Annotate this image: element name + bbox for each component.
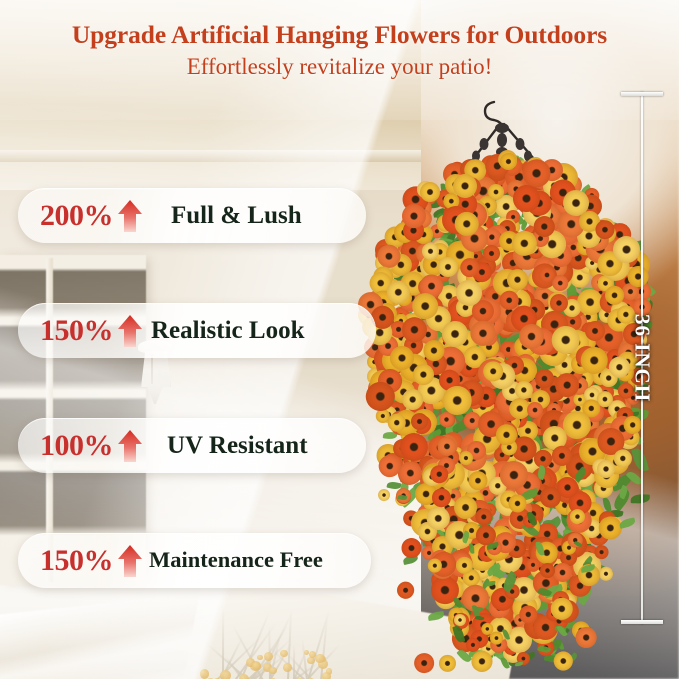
feature-percent: 150% [40, 316, 113, 346]
feature-percent: 150% [40, 546, 113, 576]
feature-pill-full-and-lush[interactable]: 200% Full & Lush [18, 188, 366, 243]
artificial-flowers [352, 156, 652, 656]
up-arrow-icon [117, 429, 143, 463]
feature-label: UV Resistant [167, 433, 308, 458]
feature-percent: 100% [40, 431, 113, 461]
ruler-cap-top [621, 92, 663, 96]
feature-pill-maintenance-free[interactable]: 150% Maintenance Free [18, 533, 371, 588]
up-arrow-icon [117, 544, 143, 578]
measurement-label: 36 INCH [630, 314, 655, 402]
up-arrow-icon [117, 199, 143, 233]
lantern-bottom [147, 386, 163, 404]
up-arrow-icon [117, 314, 143, 348]
background-grass-pods [195, 650, 345, 679]
measurement-ruler: 36 INCH [619, 92, 665, 624]
feature-pill-realistic-look[interactable]: 150% Realistic Look [18, 303, 376, 358]
product-infographic: Upgrade Artificial Hanging Flowers for O… [0, 0, 679, 679]
hanging-flower-basket [352, 96, 652, 656]
feature-label: Realistic Look [151, 318, 304, 343]
feature-label: Full & Lush [171, 203, 302, 228]
ruler-cap-bottom [621, 620, 663, 624]
feature-pill-uv-resistant[interactable]: 100% UV Resistant [18, 418, 366, 473]
feature-label: Maintenance Free [149, 549, 323, 572]
feature-percent: 200% [40, 201, 113, 231]
